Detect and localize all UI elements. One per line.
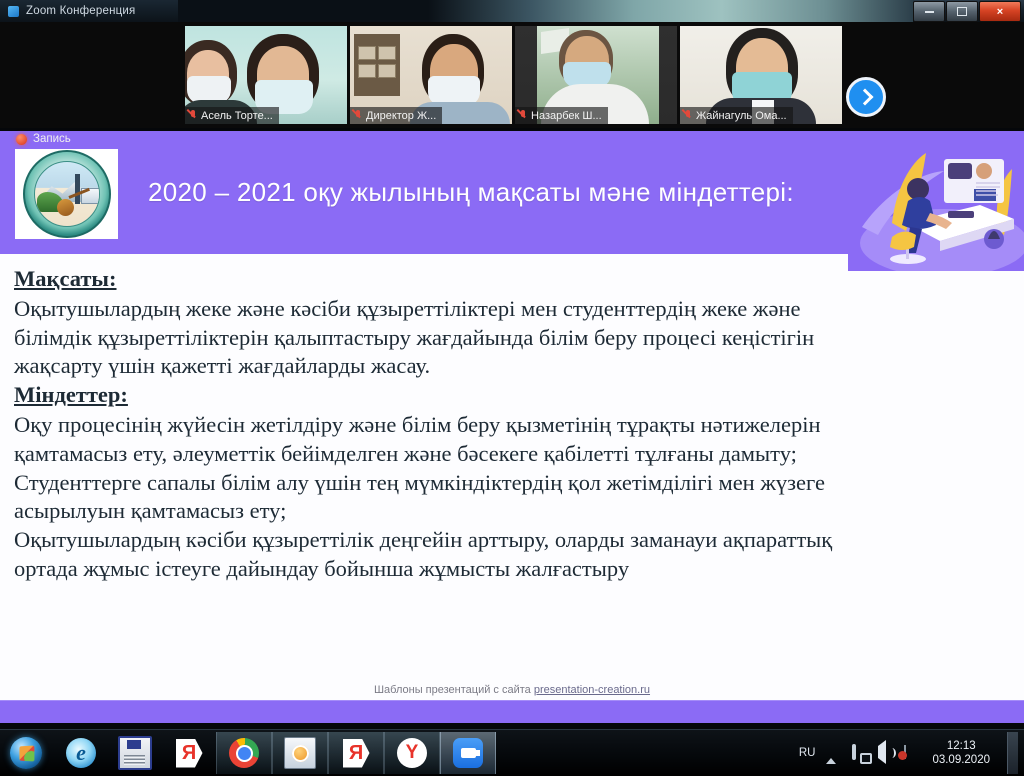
media-player-icon (284, 737, 316, 769)
yandex-browser-icon: Y (397, 738, 427, 768)
minimize-icon (925, 11, 934, 13)
network-icon[interactable] (852, 746, 867, 761)
show-hidden-icons-button[interactable] (826, 746, 841, 761)
taskbar-item-yandex-browser[interactable]: Y (384, 732, 440, 774)
participant-name-text: Жайнагуль Ома... (696, 110, 787, 122)
taskbar-item-yandex[interactable]: Я (162, 732, 216, 774)
participant-name: Директор Ж... (350, 107, 442, 124)
window-controls: × (913, 1, 1024, 21)
slide-header: 2020 – 2021 оқу жылының мақсаты мәне мін… (0, 131, 1024, 254)
participant-name: Асель Торте... (185, 107, 279, 124)
mic-off-icon (684, 110, 692, 121)
emblem-inner (34, 161, 100, 227)
windows-start-orb-icon (10, 737, 42, 769)
emblem-dombra-icon (57, 196, 91, 216)
zoom-window-titlebar: Zoom Конференция × (0, 0, 1024, 22)
taskbar-item-google-chrome[interactable] (216, 732, 272, 774)
action-center-icon[interactable] (904, 746, 919, 761)
slide-attribution: Шаблоны презентаций с сайта presentation… (0, 684, 1024, 696)
show-desktop-button[interactable] (1007, 732, 1018, 774)
close-button[interactable]: × (979, 1, 1021, 22)
titlebar-app-group: Zoom Конференция (0, 0, 178, 22)
attribution-link[interactable]: presentation-creation.ru (534, 684, 650, 696)
clock-date: 03.09.2020 (932, 753, 990, 767)
taskbar-item-yandex-2[interactable]: Я (328, 732, 384, 774)
titlebar-drag-area[interactable] (178, 0, 913, 22)
taskbar-item-zoom[interactable] (440, 732, 496, 774)
participant-name-text: Асель Торте... (201, 110, 273, 122)
taskbar-items: e Я Я Y (54, 732, 496, 774)
yandex-icon: Я (343, 739, 370, 768)
participant-strip: Асель Торте... Директор Ж... (0, 22, 1024, 128)
section-body-tasks: Оқу процесінің жүйесін жетілдіру және бі… (14, 411, 872, 469)
section-label-tasks: Міндеттер: (14, 381, 872, 410)
section-label-goal: Мақсаты: (14, 265, 872, 294)
taskbar-item-internet-explorer[interactable]: e (54, 732, 108, 774)
recording-indicator[interactable]: Запись (16, 133, 71, 145)
participant-tile-active[interactable]: Жайнагуль Ома... (680, 26, 842, 124)
volume-icon[interactable] (878, 746, 893, 761)
participant-name: Жайнагуль Ома... (680, 107, 793, 124)
desktop-screen: Zoom Конференция × (0, 0, 1024, 776)
floppy-icon (118, 736, 152, 770)
participant-name: Назарбек Ш... (515, 107, 608, 124)
clock-time: 12:13 (947, 739, 976, 753)
zoom-icon (8, 6, 19, 17)
shared-slide: 2020 – 2021 оқу жылының мақсаты мәне мін… (0, 131, 1024, 723)
next-participants-button[interactable] (846, 77, 886, 117)
zoom-camera-icon (453, 738, 483, 768)
clock[interactable]: 12:13 03.09.2020 (930, 739, 990, 767)
start-button[interactable] (4, 733, 48, 773)
language-indicator[interactable]: RU (799, 747, 816, 759)
windows-taskbar: e Я Я Y RU 12:13 03.09.2020 (0, 729, 1024, 776)
mic-off-icon (189, 110, 197, 121)
attribution-text: Шаблоны презентаций с сайта (374, 684, 534, 696)
participant-tile[interactable]: Асель Торте... (185, 26, 347, 124)
chevron-right-icon (856, 89, 873, 106)
slide-footer-bar (0, 700, 1024, 723)
participant-name-text: Директор Ж... (366, 110, 436, 122)
mic-off-icon (354, 110, 362, 121)
chrome-icon (229, 738, 259, 768)
recording-label: Запись (33, 133, 71, 145)
window-title: Zoom Конференция (26, 5, 135, 17)
maximize-button[interactable] (946, 1, 978, 22)
slide-body: Мақсаты: Оқытушылардың жеке және кәсіби … (14, 265, 872, 584)
college-emblem-logo (15, 149, 118, 239)
participant-tile[interactable]: Назарбек Ш... (515, 26, 677, 124)
minimize-button[interactable] (913, 1, 945, 22)
slide-title: 2020 – 2021 оқу жылының мақсаты мәне мін… (148, 131, 794, 254)
taskbar-item-save-document[interactable] (108, 732, 162, 774)
ie-icon: e (66, 738, 96, 768)
section-body-goal: Оқытушылардың жеке және кәсіби құзыретті… (14, 295, 872, 381)
system-tray: RU 12:13 03.09.2020 (799, 732, 1024, 774)
mic-off-icon (519, 110, 527, 121)
record-dot-icon (16, 134, 27, 145)
maximize-icon (957, 7, 967, 16)
task-paragraph-2: Студенттерге сапалы білім алу үшін тең м… (14, 469, 872, 527)
video-call-illustration (848, 131, 1024, 271)
participant-tiles: Асель Торте... Директор Ж... (185, 26, 842, 124)
yandex-icon: Я (176, 739, 203, 768)
taskbar-item-media-player[interactable] (272, 732, 328, 774)
emblem-ring (23, 150, 111, 238)
participant-tile[interactable]: Директор Ж... (350, 26, 512, 124)
participant-name-text: Назарбек Ш... (531, 110, 602, 122)
task-paragraph-3: Оқытушылардың кәсіби құзыреттілік деңгей… (14, 526, 872, 584)
